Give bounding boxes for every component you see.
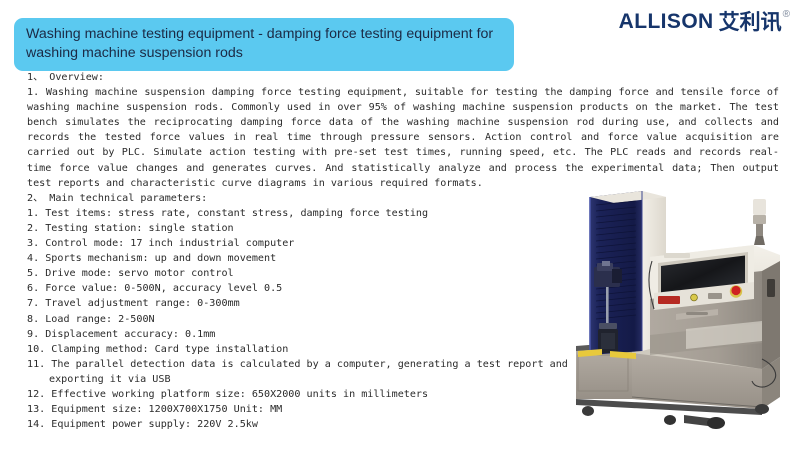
logo-chinese-name: 艾利讯	[719, 10, 782, 34]
equipment-photo	[566, 183, 800, 450]
caster-wheel	[582, 406, 594, 416]
page-title: Washing machine testing equipment - damp…	[14, 18, 514, 71]
specimen-rod	[606, 287, 609, 325]
indicator-button	[691, 294, 698, 301]
emergency-stop-button	[731, 286, 740, 295]
registered-trademark-icon: ®	[783, 10, 790, 20]
warning-label	[658, 296, 680, 304]
status-light-tower	[753, 199, 766, 245]
caster-wheel	[755, 404, 769, 414]
panel-button	[708, 293, 722, 299]
control-console	[650, 245, 780, 369]
parameter-item: 11. The parallel detection data is calcu…	[27, 357, 594, 387]
overview-paragraph: 1. Washing machine suspension damping fo…	[27, 85, 779, 191]
company-logo: ALLISON 艾利讯 ®	[619, 10, 790, 40]
page-header: Washing machine testing equipment - damp…	[0, 0, 800, 68]
logo-wordmark: ALLISON	[619, 10, 714, 34]
caster-wheel	[664, 415, 676, 425]
side-vent	[767, 279, 775, 297]
overview-heading: 1、 Overview:	[27, 70, 779, 85]
